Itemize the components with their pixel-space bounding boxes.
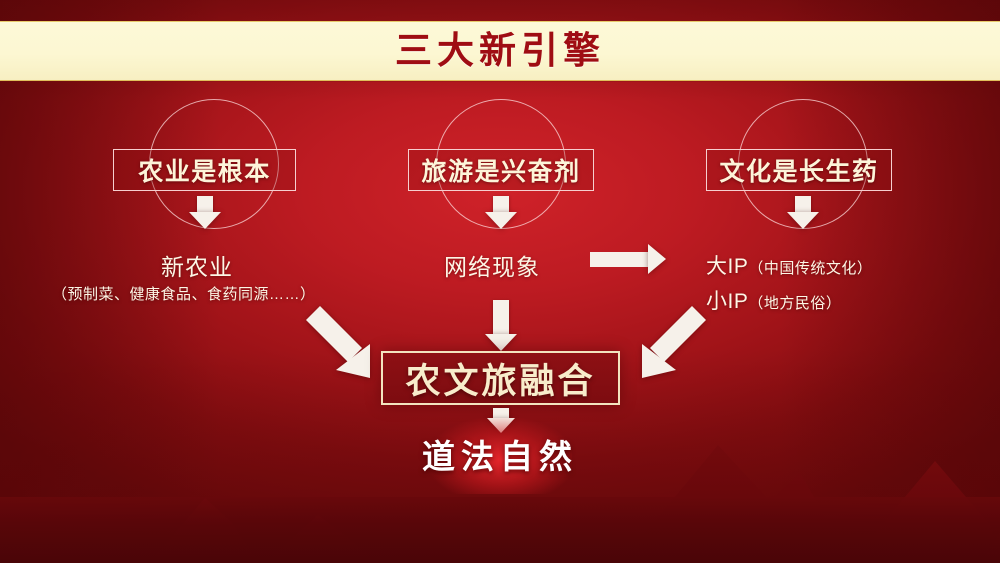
column-1-detail-label: （预制菜、健康食品、食药同源……）: [52, 283, 316, 304]
column-3-small-ip-note: （地方民俗）: [748, 295, 841, 312]
col1-to-result-arrow-icon: [300, 300, 392, 392]
column-3-small-ip-line: 小IP（地方民俗）: [706, 285, 841, 315]
column-3-small-ip-label: 小IP: [706, 290, 748, 313]
column-3-big-ip-note: （中国传统文化）: [748, 260, 872, 277]
motto-label: 道法自然: [0, 430, 1000, 478]
column-1-header-label: 农业是根本: [138, 152, 271, 188]
column-2-header-box[interactable]: 旅游是兴奋剂: [408, 149, 594, 191]
column-1-header-box[interactable]: 农业是根本: [113, 149, 296, 191]
ground-band: [0, 497, 1000, 563]
col2-to-result-arrow-icon: [485, 300, 517, 351]
column-3-big-ip-label: 大IP: [706, 255, 748, 278]
column-3-big-ip-line: 大IP（中国传统文化）: [706, 250, 872, 280]
column-2-main-label: 网络现象: [444, 248, 540, 282]
column-3-header-box[interactable]: 文化是长生药: [706, 149, 892, 191]
result-box[interactable]: 农文旅融合: [381, 351, 620, 405]
column-2-down-arrow-icon: [485, 196, 517, 229]
column-3-down-arrow-icon: [787, 196, 819, 229]
column-1-down-arrow-icon: [189, 196, 221, 229]
slide-canvas: 三大新引擎 农业是根本 新农业 （预制菜、健康食品、食药同源……） 旅游是兴奋剂…: [0, 0, 1000, 563]
col3-to-result-arrow-icon: [620, 300, 712, 392]
result-label: 农文旅融合: [405, 353, 595, 404]
column-2-header-label: 旅游是兴奋剂: [421, 152, 580, 188]
title-banner: 三大新引擎: [0, 21, 1000, 81]
column-1-main-label: 新农业: [161, 248, 233, 282]
column-3-header-label: 文化是长生药: [719, 152, 878, 188]
page-title: 三大新引擎: [395, 33, 605, 70]
col2-to-col3-arrow-icon: [590, 244, 666, 274]
